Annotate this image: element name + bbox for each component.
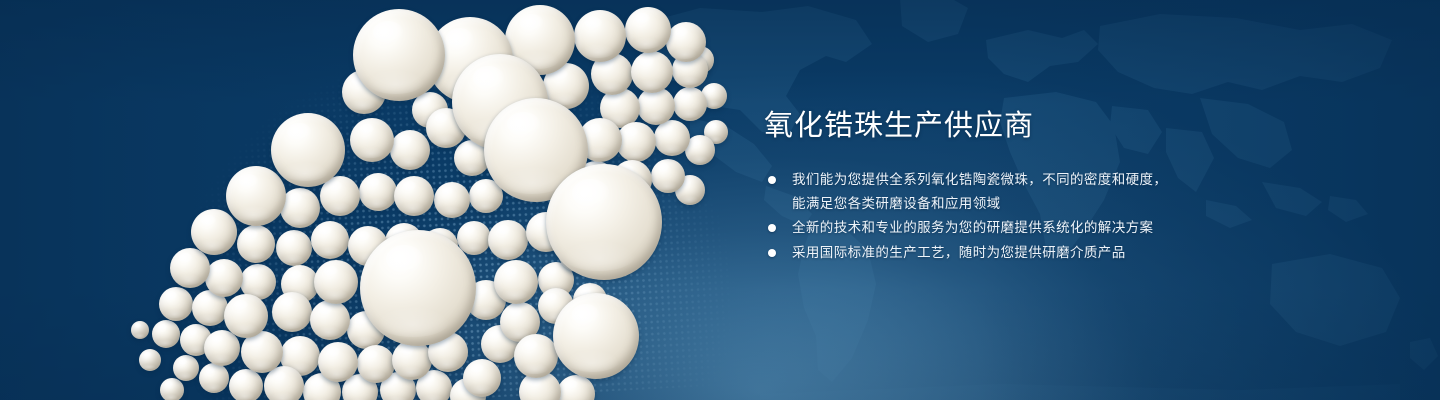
bead xyxy=(191,209,237,255)
bullet-line: 采用国际标准的生产工艺，随时为您提供研磨介质产品 xyxy=(792,241,1234,265)
bead xyxy=(553,293,639,379)
bead xyxy=(359,173,397,211)
bead xyxy=(139,349,161,371)
bead xyxy=(654,120,690,156)
bead xyxy=(271,113,345,187)
bead xyxy=(434,182,470,218)
bullet-dot-icon xyxy=(768,176,776,184)
bead xyxy=(651,159,685,193)
bead xyxy=(310,300,350,340)
bead xyxy=(205,259,243,297)
bead xyxy=(390,130,430,170)
list-item: 全新的技术和专业的服务为您的研磨提供系统化的解决方案 xyxy=(764,216,1234,240)
bead xyxy=(350,118,394,162)
bead xyxy=(229,369,263,400)
bead xyxy=(276,230,312,266)
bead xyxy=(625,7,671,53)
bead xyxy=(673,87,707,121)
bead xyxy=(224,294,268,338)
banner-title: 氧化锆珠生产供应商 xyxy=(764,108,1234,144)
bead xyxy=(159,287,193,321)
bead xyxy=(360,230,476,346)
bead xyxy=(392,340,432,380)
bead xyxy=(353,9,445,101)
bead xyxy=(272,292,312,332)
hero-banner: 氧化锆珠生产供应商 我们能为您提供全系列氧化锆陶瓷微珠，不同的密度和硬度， 能满… xyxy=(0,0,1440,400)
list-item: 采用国际标准的生产工艺，随时为您提供研磨介质产品 xyxy=(764,241,1234,265)
bead xyxy=(237,225,275,263)
bead xyxy=(318,342,358,382)
banner-copy-block: 氧化锆珠生产供应商 我们能为您提供全系列氧化锆陶瓷微珠，不同的密度和硬度， 能满… xyxy=(764,108,1234,265)
bead xyxy=(314,260,358,304)
bead xyxy=(311,221,349,259)
bead xyxy=(666,22,706,62)
bead xyxy=(557,375,595,400)
bead xyxy=(637,87,675,125)
feature-bullet-list: 我们能为您提供全系列氧化锆陶瓷微珠，不同的密度和硬度， 能满足您各类研磨设备和应… xyxy=(764,168,1234,264)
bead xyxy=(173,355,199,381)
bead xyxy=(514,334,558,378)
bead xyxy=(160,378,184,400)
bead xyxy=(616,122,656,162)
bead xyxy=(152,320,180,348)
bead xyxy=(494,260,538,304)
list-item: 我们能为您提供全系列氧化锆陶瓷微珠，不同的密度和硬度， 能满足您各类研磨设备和应… xyxy=(764,168,1234,215)
bead xyxy=(170,248,210,288)
bead xyxy=(394,176,434,216)
bead xyxy=(488,220,528,260)
bead xyxy=(631,51,673,93)
bead xyxy=(226,166,286,226)
bead xyxy=(546,164,662,280)
bead xyxy=(463,359,501,397)
bead xyxy=(280,188,320,228)
bullet-dot-icon xyxy=(768,224,776,232)
bullet-line: 能满足您各类研磨设备和应用领域 xyxy=(792,192,1234,216)
bead xyxy=(204,330,240,366)
bullet-dot-icon xyxy=(768,249,776,257)
bead xyxy=(357,345,395,383)
bead xyxy=(574,10,626,62)
bullet-line: 我们能为您提供全系列氧化锆陶瓷微珠，不同的密度和硬度， xyxy=(792,168,1234,192)
bead xyxy=(131,321,149,339)
bead xyxy=(199,363,229,393)
bullet-line: 全新的技术和专业的服务为您的研磨提供系统化的解决方案 xyxy=(792,216,1234,240)
